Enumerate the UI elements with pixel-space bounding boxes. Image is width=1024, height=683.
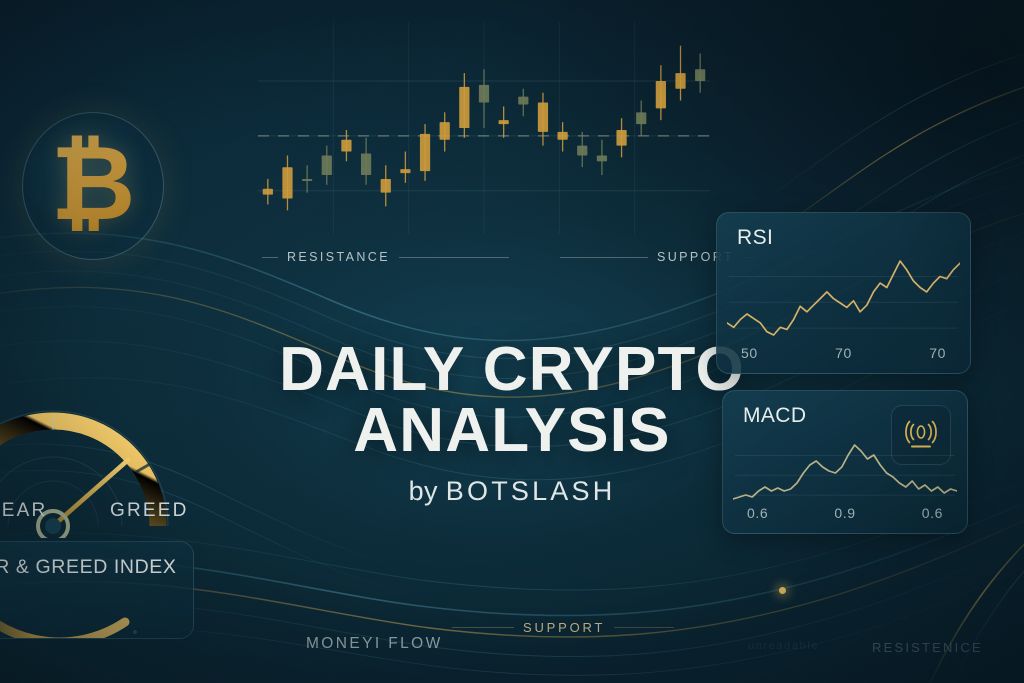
rsi-axis-tick-1: 70 — [835, 345, 852, 361]
marker-dash-right — [614, 627, 674, 628]
gauge-label-fear: FEAR — [0, 500, 47, 522]
marker-dash-left — [452, 627, 514, 628]
marker-dash-right — [399, 257, 509, 258]
panel-rsi[interactable]: RSI 50 70 70 — [716, 212, 971, 374]
marker-dash-left — [560, 257, 648, 258]
panel-rsi-axis: 50 70 70 — [717, 345, 970, 361]
fear-greed-index-label: FEAR & GREED INDEX — [0, 556, 193, 579]
macd-axis-tick-1: 0.9 — [834, 505, 855, 521]
marker-dash-left — [262, 257, 278, 258]
byline-prefix: by — [409, 476, 446, 506]
marker-support-bottom-label: SUPPORT — [523, 620, 605, 635]
poster-canvas: ₿ RESISTANCE SUPPORT SUPPORT DAILY CRYPT… — [0, 0, 1024, 683]
marker-resistance: RESISTANCE — [262, 250, 509, 264]
panel-rsi-title: RSI — [737, 226, 773, 250]
macd-axis-tick-2: 0.6 — [922, 505, 943, 521]
panel-macd-title: MACD — [743, 404, 806, 428]
byline-brand: BOTSLASH — [446, 476, 616, 506]
macd-sparkline — [733, 439, 957, 505]
fear-greed-arc — [0, 582, 177, 638]
marker-support-bottom: SUPPORT — [452, 620, 674, 635]
bitcoin-logo-badge: ₿ — [22, 112, 164, 260]
candlestick-plot — [258, 22, 710, 234]
rsi-axis-tick-0: 50 — [741, 345, 758, 361]
label-ghost-text: unreadable — [748, 640, 819, 652]
rsi-sparkline — [727, 255, 960, 341]
title-line-1: DAILY CRYPTO — [279, 335, 745, 404]
panel-macd[interactable]: MACD 0.6 0.9 0.6 — [722, 390, 968, 534]
marker-resistance-label: RESISTANCE — [287, 250, 390, 264]
rsi-axis-tick-2: 70 — [929, 345, 946, 361]
panel-macd-axis: 0.6 0.9 0.6 — [723, 505, 967, 521]
candlestick-chart — [258, 22, 710, 234]
label-money-flow: MONEYI FLOW — [306, 635, 443, 653]
macd-axis-tick-0: 0.6 — [747, 505, 768, 521]
label-resistence-faint: RESISTENICE — [872, 640, 983, 655]
bitcoin-icon: ₿ — [22, 112, 164, 260]
glow-dot-marker — [779, 587, 786, 594]
fear-greed-index-panel[interactable]: FEAR & GREED INDEX — [0, 541, 194, 639]
gauge-label-greed: GREED — [110, 500, 189, 522]
